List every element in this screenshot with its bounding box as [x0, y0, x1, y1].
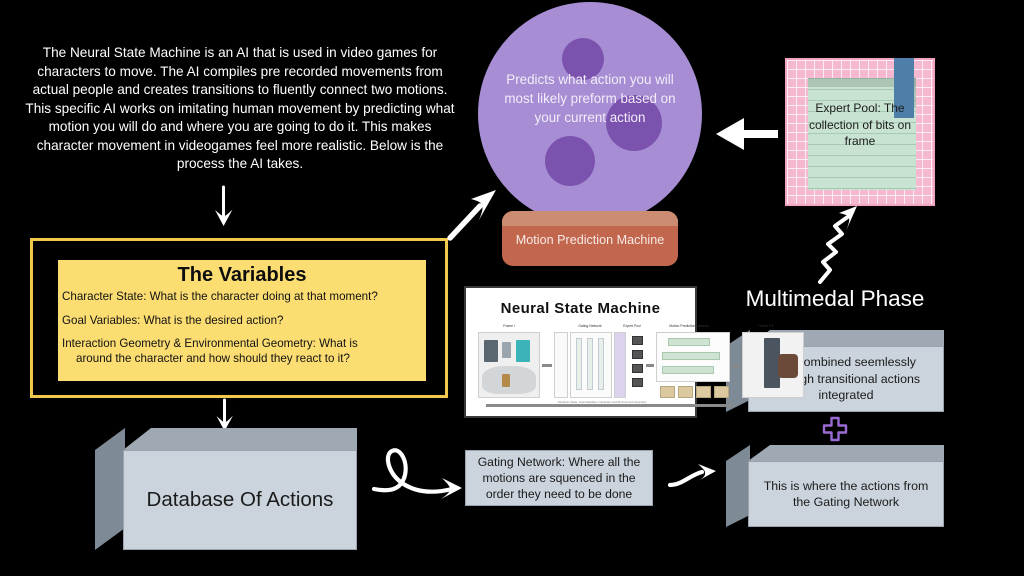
nsm-arrow-1: [542, 364, 552, 367]
expert-pool-label: Expert Pool: The collection of bits on f…: [795, 100, 925, 150]
nsm-output-object: [778, 354, 798, 378]
motion-prediction-machine-base: Motion Prediction Machine: [502, 211, 678, 266]
nsm-label-gating-network: Gating Network: [568, 324, 612, 328]
nsm-pipeline-diagram: Frame i Gating Network Expert Pool: [472, 330, 689, 412]
nsm-label-frame-i: Frame i: [478, 324, 540, 328]
crystal-ball-prediction-text: Predicts what action you will most likel…: [500, 70, 680, 127]
nsm-expert-1: [632, 336, 643, 345]
nsm-label-motion-prediction-network: Motion Prediction Network: [654, 324, 724, 328]
nsm-mpn-bar-1: [668, 338, 710, 346]
nsm-figure-title: Neural State Machine: [466, 300, 695, 317]
nsm-panel-control-variables: [554, 332, 568, 398]
nsm-character-right: [516, 340, 530, 362]
nsm-gating-col-3: [598, 338, 604, 390]
database-box-side-face: [95, 428, 125, 550]
nsm-small-object: [502, 374, 510, 387]
nsm-expert-2: [632, 350, 643, 359]
nsm-arrow-3: [732, 364, 740, 367]
nsm-arrow-2: [646, 364, 654, 367]
variable-line-geometry-indent: around the character and how should they…: [62, 352, 422, 367]
variable-line-geometry-lead: Interaction Geometry & Environmental Geo…: [62, 337, 358, 350]
nsm-label-expert-pool: Expert Pool: [612, 324, 652, 328]
nsm-expert-4: [632, 378, 643, 387]
motion-prediction-machine-label: Motion Prediction Machine: [502, 233, 678, 247]
gating-actions-box-side-face: [726, 445, 750, 527]
nsm-gating-col-1: [576, 338, 582, 390]
nsm-object-left: [502, 342, 511, 358]
nsm-label-control-variables: Character State, Goal Variables, Interac…: [502, 400, 702, 404]
database-box-front-face: Database Of Actions: [123, 450, 357, 550]
arrow-left-pool-to-ball: [714, 114, 782, 154]
arrow-curve-gating-to-actions: [668, 463, 730, 497]
nsm-weight-1: [660, 386, 675, 398]
nsm-feedback-arrow: [486, 404, 734, 407]
nsm-panel-blending: [614, 332, 626, 398]
nsm-gating-col-2: [587, 338, 593, 390]
gating-actions-box-top-face: [748, 445, 944, 461]
arrow-zigzag-multimedal-to-pool: [814, 204, 886, 286]
nsm-character-left: [484, 340, 498, 362]
plus-icon: [822, 416, 848, 442]
nsm-mpn-bar-3: [662, 366, 714, 374]
variable-line-character-state: Character State: What is the character d…: [62, 290, 422, 305]
variables-title: The Variables: [62, 262, 422, 288]
infographic-canvas: The Neural State Machine is an AI that i…: [0, 0, 1024, 576]
nsm-mpn-bar-2: [662, 352, 720, 360]
database-of-actions-box: Database Of Actions: [95, 428, 357, 550]
intro-paragraph: The Neural State Machine is an AI that i…: [24, 44, 456, 174]
neural-state-machine-figure: Neural State Machine Frame i Gating Netw…: [464, 286, 697, 418]
arrow-diagonal-to-crystal-ball: [446, 186, 506, 242]
database-box-top-face: [123, 428, 357, 450]
nsm-expert-3: [632, 364, 643, 373]
gating-network-box: Gating Network: Where all the motions ar…: [465, 450, 653, 506]
nsm-weight-4: [714, 386, 729, 398]
variables-inner-panel: The Variables Character State: What is t…: [58, 260, 426, 381]
arrow-down-intro-to-variables: [206, 186, 242, 230]
gating-actions-box-front-face: This is where the actions from the Gatin…: [748, 461, 944, 527]
variables-box: The Variables Character State: What is t…: [30, 238, 448, 398]
machine-base-top-strip: [502, 211, 678, 226]
nsm-weight-2: [678, 386, 693, 398]
variable-line-goal-variables: Goal Variables: What is the desired acti…: [62, 314, 422, 329]
gating-actions-box: This is where the actions from the Gatin…: [726, 445, 944, 527]
crystal-ball-bubble-bottom: [545, 136, 595, 186]
nsm-weight-3: [696, 386, 711, 398]
nsm-label-frame-next: Frame i+1: [742, 324, 790, 328]
multimedal-phase-heading: Multimedal Phase: [726, 285, 944, 313]
variable-line-geometry: Interaction Geometry & Environmental Geo…: [62, 337, 422, 366]
